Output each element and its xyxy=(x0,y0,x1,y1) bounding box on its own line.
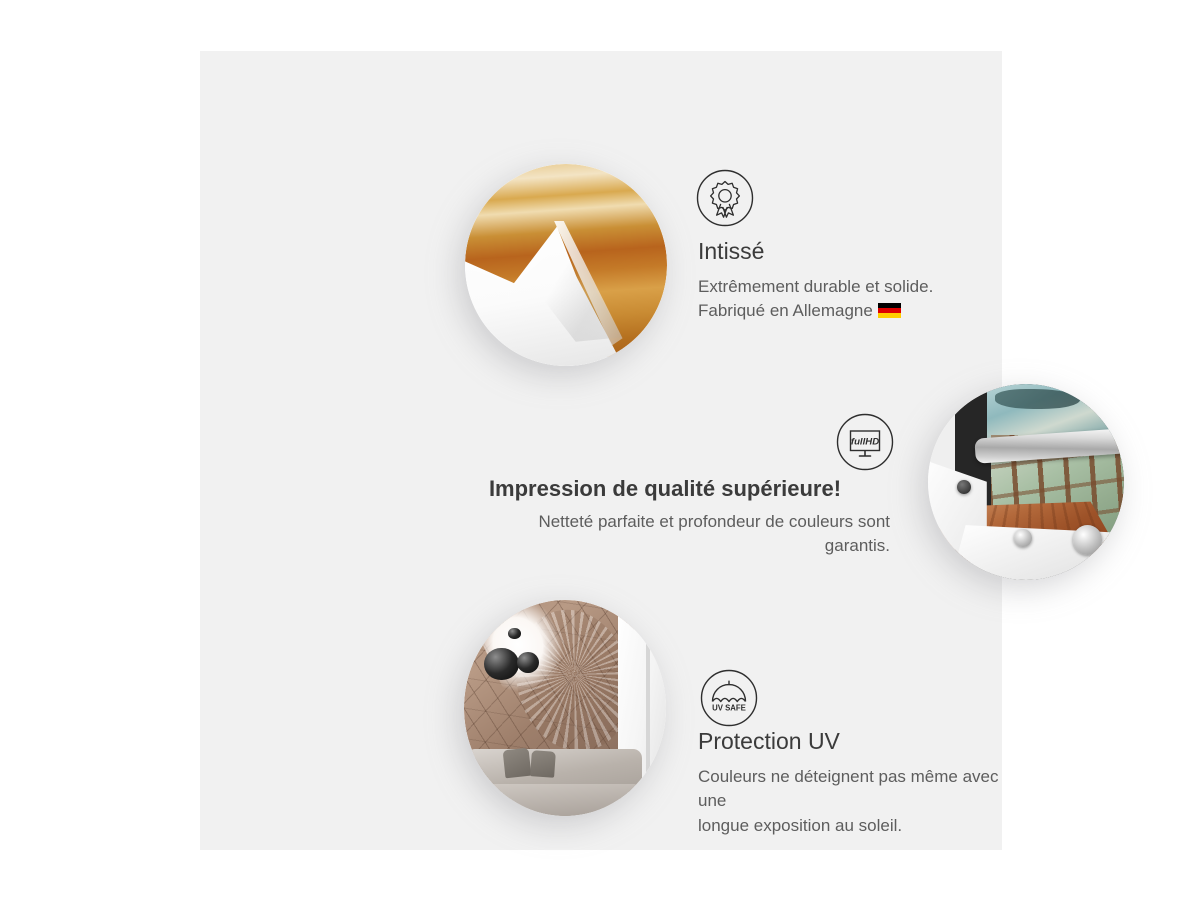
german-flag-icon xyxy=(878,303,901,318)
award-ribbon-icon xyxy=(696,169,754,227)
uv-umbrella-icon: UV SAFE xyxy=(700,669,758,727)
desc-line-2: garantis. xyxy=(440,534,890,559)
desc-line-1: Couleurs ne déteignent pas même avec une xyxy=(698,765,1002,814)
product-feature-page: Intissé Extrêmement durable et solide. F… xyxy=(0,0,1200,900)
feature-desc-impression: Netteté parfaite et profondeur de couleu… xyxy=(440,510,890,559)
decor-orb xyxy=(484,648,518,680)
sofa-seat xyxy=(472,784,638,816)
decor-orb xyxy=(508,628,520,639)
feature-title-impression: Impression de qualité supérieure! xyxy=(440,475,890,503)
desc-line-2-text: Fabriqué en Allemagne xyxy=(698,301,873,320)
feature-text-impression: Impression de qualité supérieure! Nettet… xyxy=(440,475,890,559)
feature-title-intisse: Intissé xyxy=(698,237,933,266)
photo-inner xyxy=(928,384,1124,580)
content-panel: Intissé Extrêmement durable et solide. F… xyxy=(200,51,1002,850)
sofa-cushion xyxy=(503,748,532,779)
desc-line-2: longue exposition au soleil. xyxy=(698,814,1002,839)
svg-text:UV SAFE: UV SAFE xyxy=(712,704,746,713)
feature-text-uv: Protection UV Couleurs ne déteignent pas… xyxy=(698,727,1002,839)
printing-press-photo xyxy=(928,384,1124,580)
living-room-interior-photo xyxy=(464,600,666,816)
peeling-golden-wallpaper-photo xyxy=(465,164,667,366)
feature-desc-uv: Couleurs ne déteignent pas même avec une… xyxy=(698,765,1002,839)
press-wheel xyxy=(1073,525,1102,554)
photo-inner xyxy=(464,600,666,816)
press-knob xyxy=(1014,529,1032,547)
desc-line-1: Netteté parfaite et profondeur de couleu… xyxy=(440,510,890,535)
press-bolt xyxy=(957,480,971,494)
desc-line-1: Extrêmement durable et solide. xyxy=(698,275,933,300)
feature-desc-intisse: Extrêmement durable et solide. Fabriqué … xyxy=(698,275,933,324)
fullhd-monitor-icon: fullHD xyxy=(836,413,894,471)
feature-text-intisse: Intissé Extrêmement durable et solide. F… xyxy=(698,237,933,324)
photo-inner xyxy=(465,164,667,366)
sofa-cushion xyxy=(530,750,556,778)
decor-orb xyxy=(517,652,539,674)
desc-line-2: Fabriqué en Allemagne xyxy=(698,299,933,324)
window-frame xyxy=(646,609,650,777)
svg-text:fullHD: fullHD xyxy=(851,436,879,447)
feature-title-uv: Protection UV xyxy=(698,727,1002,756)
